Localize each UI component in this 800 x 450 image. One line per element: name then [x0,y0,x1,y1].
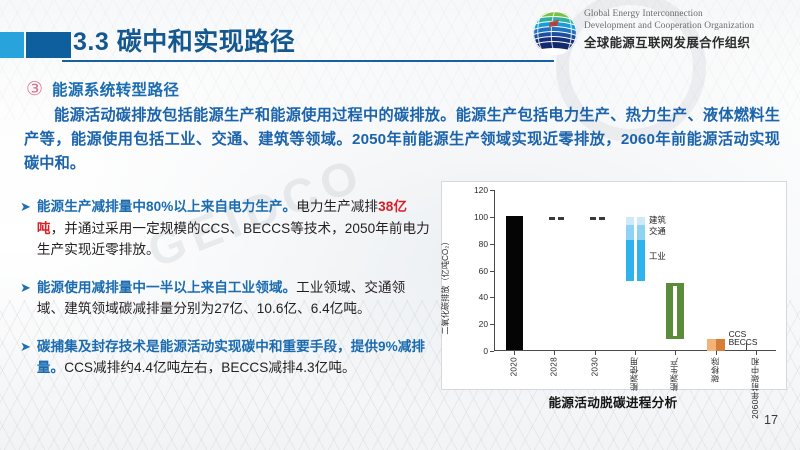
bullet-text-3: 碳捕集及封存技术是能源活动实现碳中和重要手段，提供9%减排量。CCS减排约4.4… [37,336,430,379]
chart-y-tick [490,217,494,218]
chart-y-tick-label: 40 [479,292,488,302]
chart-x-tick [675,351,676,355]
chart-y-tick [490,271,494,272]
chart-x-tick-label: 2028 [550,357,559,376]
logo-text-block: Global Energy Interconnection Developmen… [584,9,796,51]
header-accent-square-dark [26,32,71,58]
chart-marker-2028 [549,217,555,220]
chart-endpoint-marker [746,343,747,350]
chart-segment-交通 [626,225,634,239]
chart-x-tick-label: 2030 [590,357,599,376]
chart-caption: 能源活动脱碳进程分析 [441,392,785,411]
section-number-icon: ③ [26,80,43,99]
chart-y-tick-label: 20 [479,319,488,329]
chart-y-tick-label: 100 [474,212,488,222]
chart-y-tick-label: 60 [479,266,488,276]
chart-x-tick [635,351,636,355]
chart-y-tick-label: 80 [479,239,488,249]
chart-x-tick [716,351,717,355]
chart-legend-建筑: 建筑 [649,214,666,226]
bullet-2-part-0: 能源使用减排量中一半以上来自工业领域。 [37,280,296,295]
chart-y-axis [494,190,495,351]
chart-legend-交通: 交通 [649,225,666,237]
chart-segment-industry-tail [626,276,634,281]
chart-bar-energy-production [666,283,684,339]
bullet-arrow-icon: ➤ [20,336,31,379]
list-item: ➤ 能源使用减排量中一半以上来自工业领域。工业领域、交通领域、建筑领域碳减排量分… [20,277,430,320]
decarbonization-chart: 二氧化碳排放（亿吨CO₂） 02040608010012020202028203… [441,181,787,390]
page-number: 17 [764,413,778,427]
organization-logo: Global Energy Interconnection Developmen… [532,8,794,60]
chart-segment-交通 [637,225,645,239]
bullet-text-1: 能源生产减排量中80%以上来自电力生产。电力生产减排38亿吨，并通过采用一定规模… [37,196,430,261]
header-accent-square-light [0,32,24,58]
chart-bar-inner-gap [673,286,677,336]
page-title: 3.3 碳中和实现路径 [73,22,295,58]
chart-x-tick [595,351,596,355]
chart-y-tick [490,244,494,245]
chart-y-axis-title: 二氧化碳排放（亿吨CO₂） [439,237,451,334]
chart-bar-energy-use-col1 [626,217,634,281]
section-heading-label: 能源系统转型路径 [52,78,179,100]
chart-y-tick [490,324,494,325]
chart-legend-工业: 工业 [649,250,666,262]
chart-x-tick-label: 能源生产 [669,357,681,391]
slide-header: 3.3 碳中和实现路径 [0,0,800,72]
chart-legend-BECCS: BECCS [729,337,758,347]
chart-bar-2020 [506,216,523,350]
bullet-arrow-icon: ➤ [20,277,31,320]
chart-y-tick [490,351,494,352]
chart-marker-2030 [599,217,605,220]
chart-segment-建筑 [626,217,634,226]
chart-x-tick-label: 2020 [510,357,519,376]
chart-x-tick [756,351,757,355]
chart-x-tick [514,351,515,355]
bullet-arrow-icon: ➤ [20,196,31,261]
chart-x-tick [554,351,555,355]
section-heading: ③ 能源系统转型路径 [26,78,179,100]
chart-segment-BECCS [716,339,725,350]
bullet-1-part-0: 能源生产减排量中80%以上来自电力生产。 [37,199,296,214]
chart-y-tick [490,297,494,298]
slide-canvas: GEIDCO 3.3 碳中和实现路径 [0,0,800,450]
logo-english-line1: Global Energy Interconnection [584,9,796,21]
chart-y-tick-label: 120 [474,185,488,195]
globe-icon [532,10,578,56]
bullet-1-part-1: 电力生产减排 [296,199,378,214]
bullet-1-part-3: ，并通过采用一定规模的CCS、BECCS等技术，2050年前电力生产实现近零排放… [37,221,430,258]
chart-bar-energy-use-col2 [637,217,645,281]
chart-y-tick-label: 0 [483,346,488,356]
chart-marker-2028 [558,217,564,220]
chart-segment-CCS [707,339,716,350]
intro-paragraph: 能源活动碳排放包括能源生产和能源使用过程中的碳排放。能源生产包括电力生产、热力生… [24,104,780,176]
chart-x-tick-label: 碳移除 [710,357,722,383]
header-underline [62,60,554,62]
chart-segment-industry-tail [637,276,645,281]
list-item: ➤ 碳捕集及封存技术是能源活动实现碳中和重要手段，提供9%减排量。CCS减排约4… [20,336,430,379]
logo-chinese-name: 全球能源互联网发展合作组织 [584,33,796,51]
list-item: ➤ 能源生产减排量中80%以上来自电力生产。电力生产减排38亿吨，并通过采用一定… [20,196,430,261]
bullet-list: ➤ 能源生产减排量中80%以上来自电力生产。电力生产减排38亿吨，并通过采用一定… [20,196,430,395]
chart-y-tick [490,190,494,191]
chart-plot-area: 020406080100120202020282030能源使用能源生产碳移除20… [494,190,776,351]
chart-segment-建筑 [637,217,645,226]
chart-marker-2030 [590,217,596,220]
bullet-text-2: 能源使用减排量中一半以上来自工业领域。工业领域、交通领域、建筑领域碳减排量分别为… [37,277,430,320]
logo-english-line2: Development and Cooperation Organization [584,21,796,33]
chart-segment-工业 [637,240,645,276]
chart-x-tick-label: 能源使用 [629,357,641,391]
chart-bar-carbon-removal [707,339,725,350]
bullet-3-part-1: CCS减排约4.4亿吨左右，BECCS减排4.3亿吨。 [64,360,355,375]
chart-segment-工业 [626,240,634,276]
